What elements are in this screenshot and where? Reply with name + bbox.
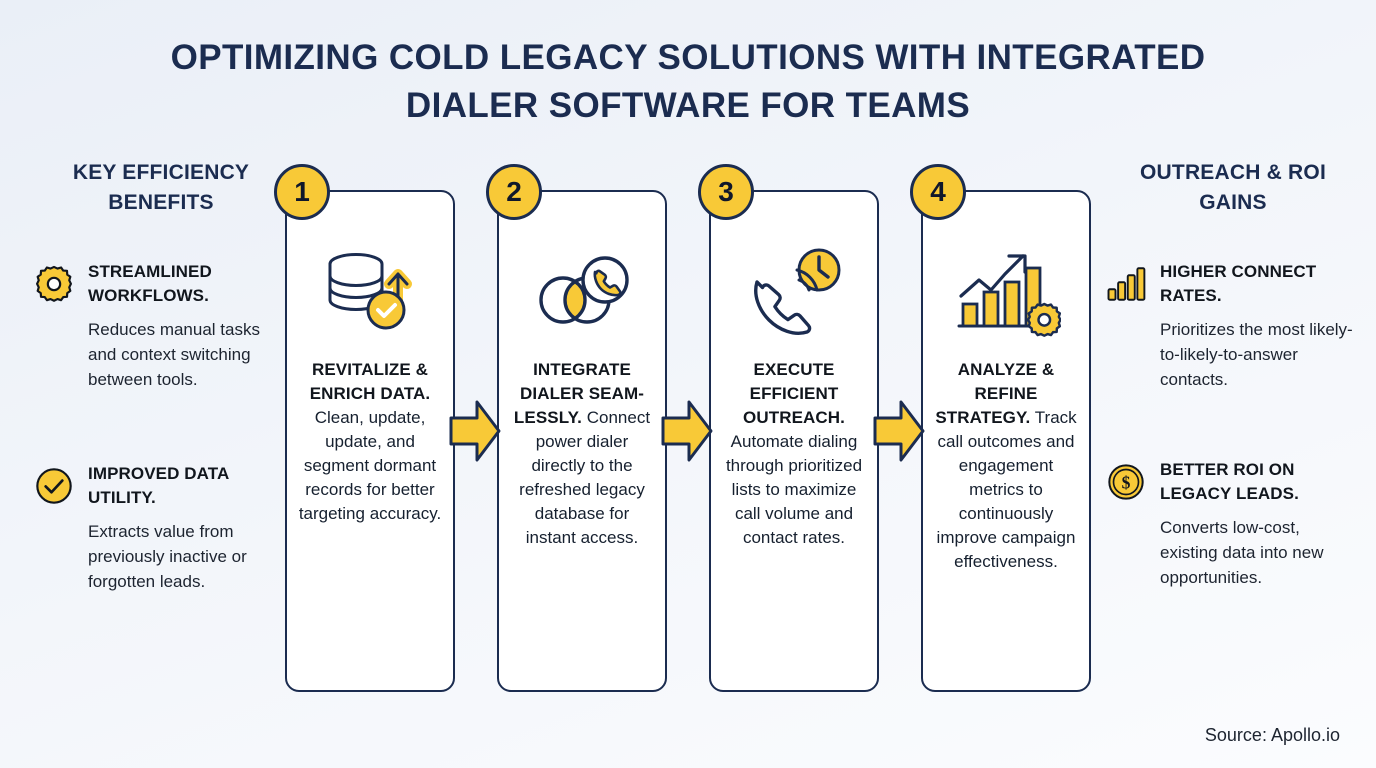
step-badge-2: 2 xyxy=(486,164,542,220)
database-upgrade-icon xyxy=(287,234,453,350)
right-gains-column: OUTREACH & ROI GAINS HIGHER CONNECT RATE… xyxy=(1104,158,1362,590)
step-heading-3: EXECUTE EFFICIENT OUTREACH. xyxy=(743,360,845,427)
overlapping-circles-phone-icon xyxy=(499,234,665,350)
right-gain-body-2: Converts low-cost, existing data into ne… xyxy=(1160,515,1362,590)
left-benefit-body-1: Reduces manual tasks and context switchi… xyxy=(88,317,290,392)
ringing-phone-clock-icon xyxy=(711,234,877,350)
step-card-3[interactable]: 3 EXECUTE EFFICIENT OUTREACH. Automate d… xyxy=(709,190,879,692)
page-title: OPTIMIZING COLD LEGACY SOLUTIONS WITH IN… xyxy=(120,34,1256,130)
svg-text:$: $ xyxy=(1122,473,1131,493)
arrow-right-icon-1 xyxy=(449,398,501,464)
growth-chart-gear-icon xyxy=(923,234,1089,350)
step-body-3: Automate dialing through prioritized lis… xyxy=(726,432,862,547)
left-benefit-title-2: IMPROVED DATA UTILITY. xyxy=(88,464,229,507)
source-attribution: Source: Apollo.io xyxy=(1205,725,1340,746)
left-benefit-body-2: Extracts value from previously inactive … xyxy=(88,519,290,594)
step-card-2[interactable]: 2 INTEGRATE DIALER SEAM-LESSLY. Connect … xyxy=(497,190,667,692)
right-gain-title-1: HIGHER CONNECT RATES. xyxy=(1160,262,1316,305)
bar-chart-icon xyxy=(1104,262,1148,306)
step-card-4[interactable]: 4 ANALYZE & REFINE STRATEGY. Track call … xyxy=(921,190,1091,692)
right-gain-title-2: BETTER ROI ON LEGACY LEADS. xyxy=(1160,460,1299,503)
step-body-1: Clean, update, update, and segment dorma… xyxy=(299,408,441,523)
step-badge-1: 1 xyxy=(274,164,330,220)
step-card-1[interactable]: 1 REVITALIZE & ENRICH DATA. Clean, updat… xyxy=(285,190,455,692)
left-benefit-item-2: IMPROVED DATA UTILITY. Extracts value fr… xyxy=(32,462,290,594)
gear-icon xyxy=(32,262,76,306)
arrow-right-icon-3 xyxy=(873,398,925,464)
coin-dollar-icon: $ xyxy=(1104,460,1148,504)
left-benefit-title-1: STREAMLINED WORKFLOWS. xyxy=(88,262,212,305)
right-column-heading: OUTREACH & ROI GAINS xyxy=(1104,158,1362,218)
step-heading-1: REVITALIZE & ENRICH DATA. xyxy=(310,360,431,403)
right-gain-item-1: HIGHER CONNECT RATES. Prioritizes the mo… xyxy=(1104,260,1362,392)
right-gain-body-1: Prioritizes the most likely-to-likely-to… xyxy=(1160,317,1362,392)
left-benefits-column: KEY EFFICIENCY BENEFITS STREAMLINED WORK… xyxy=(32,158,290,594)
arrow-right-icon-2 xyxy=(661,398,713,464)
step-body-4: Track call outcomes and engagement metri… xyxy=(937,408,1077,571)
step-badge-4: 4 xyxy=(910,164,966,220)
check-circle-icon xyxy=(32,464,76,508)
left-benefit-item-1: STREAMLINED WORKFLOWS. Reduces manual ta… xyxy=(32,260,290,392)
step-body-2: Connect power dialer directly to the ref… xyxy=(519,408,650,547)
right-gain-item-2: $ BETTER ROI ON LEGACY LEADS. Converts l… xyxy=(1104,458,1362,590)
left-column-heading: KEY EFFICIENCY BENEFITS xyxy=(32,158,290,218)
step-badge-3: 3 xyxy=(698,164,754,220)
